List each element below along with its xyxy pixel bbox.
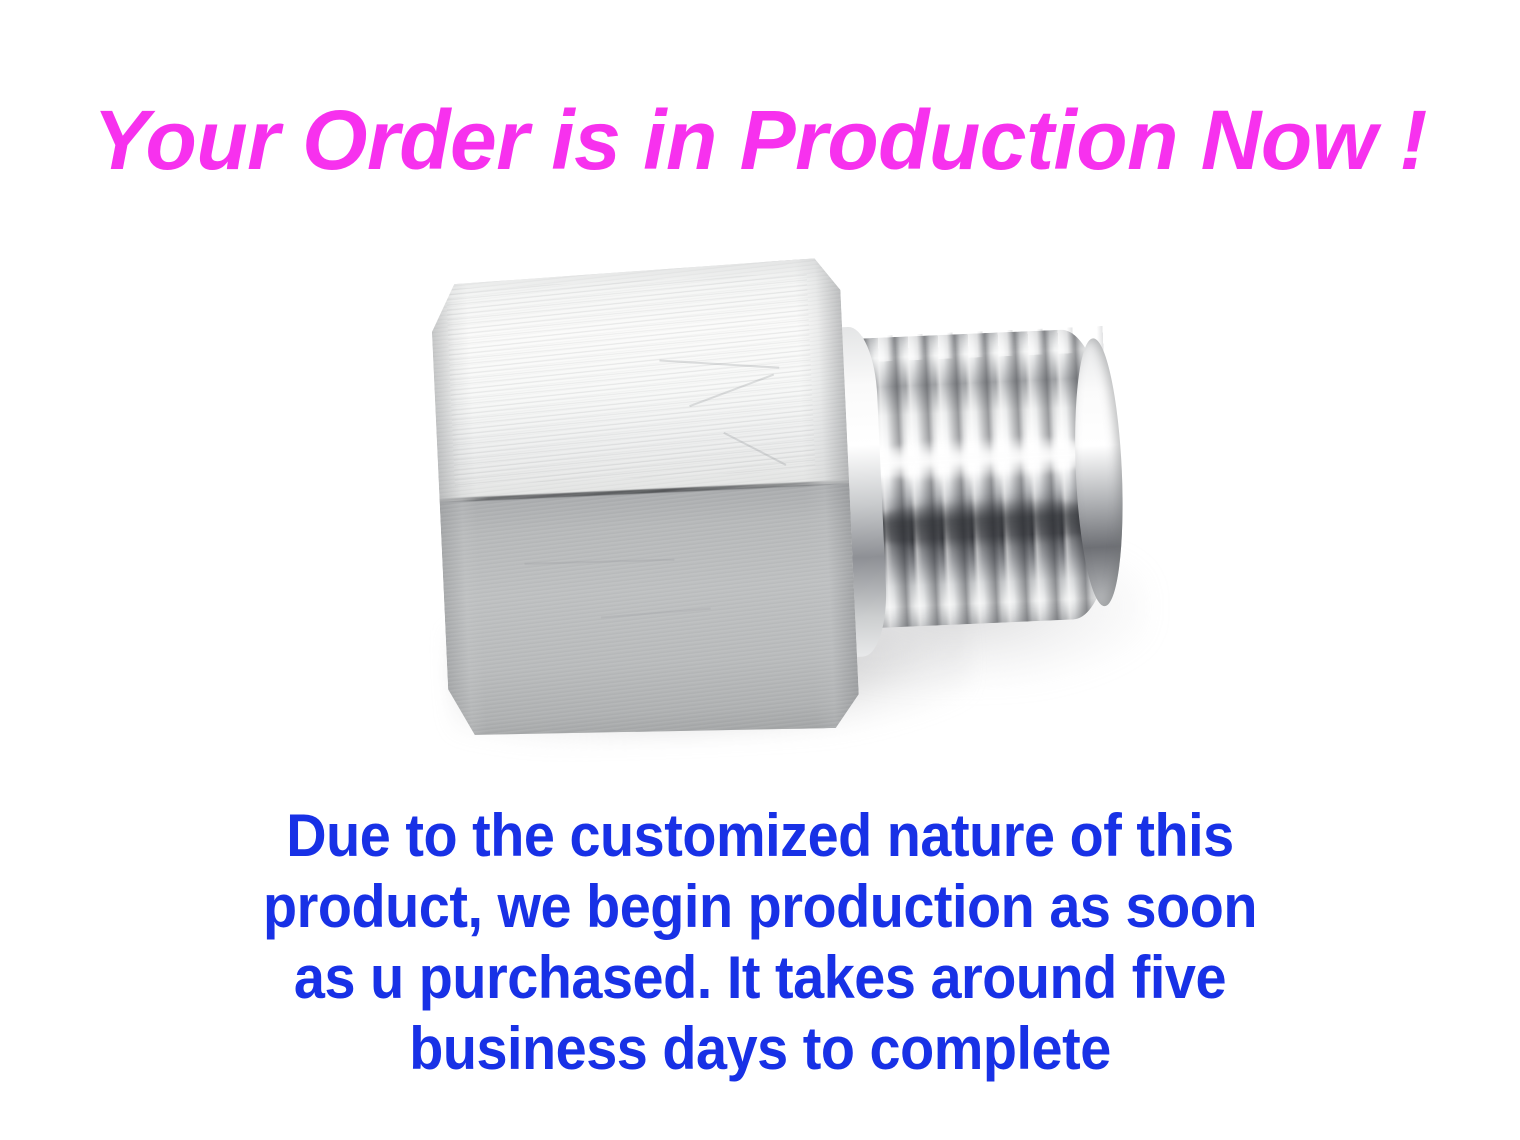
notice-line-4: business days to complete <box>53 1013 1467 1084</box>
notice-line-2: product, we begin production as soon <box>53 871 1467 942</box>
hex-coupling-body <box>429 255 920 756</box>
promo-banner: Your Order is in Production Now ! <box>0 0 1520 1140</box>
product-image <box>380 225 1180 785</box>
notice-line-1: Due to the customized nature of this <box>53 800 1467 871</box>
production-notice: Due to the customized nature of this pro… <box>53 800 1467 1084</box>
notice-line-3: as u purchased. It takes around five <box>53 942 1467 1013</box>
page-title: Your Order is in Production Now ! <box>0 92 1520 188</box>
hex-faces <box>429 257 860 745</box>
